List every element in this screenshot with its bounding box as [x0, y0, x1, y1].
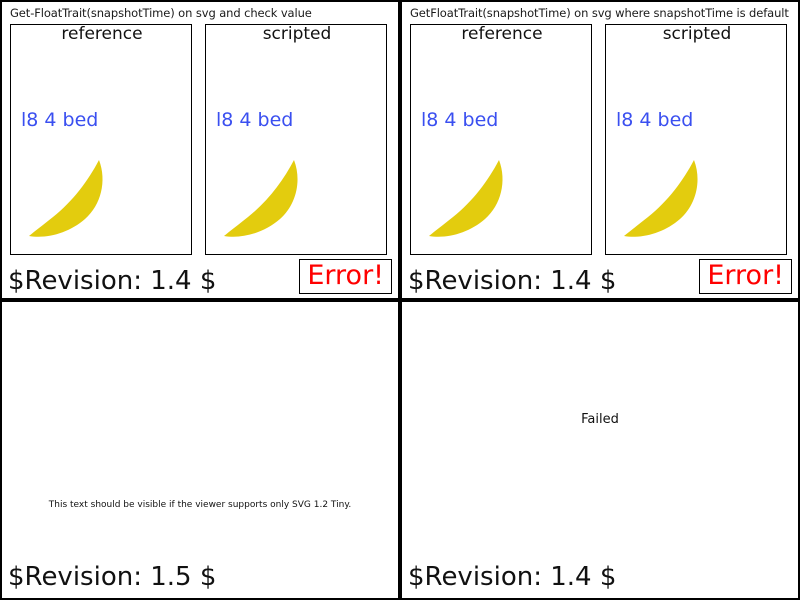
revision-label: $Revision: 1.4 $	[408, 266, 616, 296]
crescent-moon-icon	[220, 155, 316, 251]
revision-label: $Revision: 1.5 $	[8, 562, 216, 592]
reference-label: reference	[411, 24, 592, 44]
panel-title: GetFloatTrait(snapshotTime) on svg where…	[410, 6, 789, 20]
panel-bottom-left: This text should be visible if the viewe…	[0, 300, 400, 600]
crescent-moon-icon	[425, 155, 521, 251]
panel-title: Get-FloatTrait(snapshotTime) on svg and …	[10, 6, 312, 20]
panel-top-left: Get-FloatTrait(snapshotTime) on svg and …	[0, 0, 400, 300]
tiny-text-sample: l8 4 bed	[21, 109, 98, 131]
test-result-grid: Get-FloatTrait(snapshotTime) on svg and …	[0, 0, 800, 600]
reference-render-box: reference l8 4 bed	[10, 24, 192, 255]
revision-label: $Revision: 1.4 $	[8, 266, 216, 296]
scripted-render-box: scripted l8 4 bed	[205, 24, 387, 255]
reference-render-box: reference l8 4 bed	[410, 24, 592, 255]
status-badge: Error!	[299, 259, 392, 294]
render-comparison-row: reference l8 4 bed scripted l8 4 bed	[410, 24, 794, 255]
tiny-text-sample: l8 4 bed	[616, 109, 693, 131]
scripted-render-box: scripted l8 4 bed	[605, 24, 787, 255]
tiny-text-sample: l8 4 bed	[216, 109, 293, 131]
revision-label: $Revision: 1.4 $	[408, 562, 616, 592]
scripted-label: scripted	[206, 24, 387, 44]
crescent-moon-icon	[25, 155, 121, 251]
scripted-label: scripted	[606, 24, 787, 44]
panel-top-right: GetFloatTrait(snapshotTime) on svg where…	[400, 0, 800, 300]
fallback-note: This text should be visible if the viewe…	[2, 499, 398, 511]
status-text: Failed	[402, 412, 798, 428]
tiny-text-sample: l8 4 bed	[421, 109, 498, 131]
reference-label: reference	[11, 24, 192, 44]
status-badge: Error!	[699, 259, 792, 294]
crescent-moon-icon	[620, 155, 716, 251]
panel-bottom-right: Failed $Revision: 1.4 $	[400, 300, 800, 600]
render-comparison-row: reference l8 4 bed scripted l8 4 bed	[10, 24, 394, 255]
